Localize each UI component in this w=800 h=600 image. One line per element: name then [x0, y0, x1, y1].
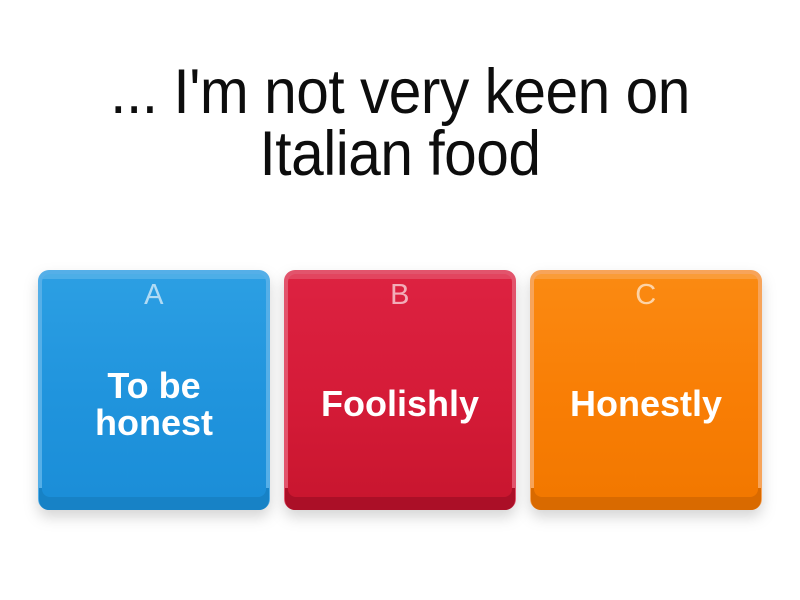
answer-letter-b: B — [390, 280, 410, 311]
answer-label-wrap-a: To be honest — [42, 311, 266, 497]
answer-label-a: To be honest — [48, 367, 260, 442]
card-face-b: B Foolishly — [288, 274, 512, 497]
answer-label-wrap-b: Foolishly — [288, 311, 512, 497]
answer-letter-c: C — [635, 280, 656, 311]
card-face-c: C Honestly — [534, 274, 758, 497]
answer-letter-a: A — [144, 280, 164, 311]
answer-label-b: Foolishly — [321, 385, 479, 422]
card-face-a: A To be honest — [42, 274, 266, 497]
question-text: ... I'm not very keen on Italian food — [28, 62, 772, 185]
answer-card-c[interactable]: C Honestly — [530, 270, 762, 510]
answer-card-a[interactable]: A To be honest — [38, 270, 270, 510]
card-content-b: B Foolishly — [288, 274, 512, 497]
card-content-a: A To be honest — [42, 274, 266, 497]
quiz-screen: ... I'm not very keen on Italian food A … — [0, 0, 800, 600]
card-content-c: C Honestly — [534, 274, 758, 497]
answer-card-b[interactable]: B Foolishly — [284, 270, 516, 510]
question-block: ... I'm not very keen on Italian food — [0, 62, 800, 185]
answer-label-wrap-c: Honestly — [534, 311, 758, 497]
answer-label-c: Honestly — [570, 385, 722, 422]
answer-options-row: A To be honest B Foolishly — [38, 270, 762, 518]
